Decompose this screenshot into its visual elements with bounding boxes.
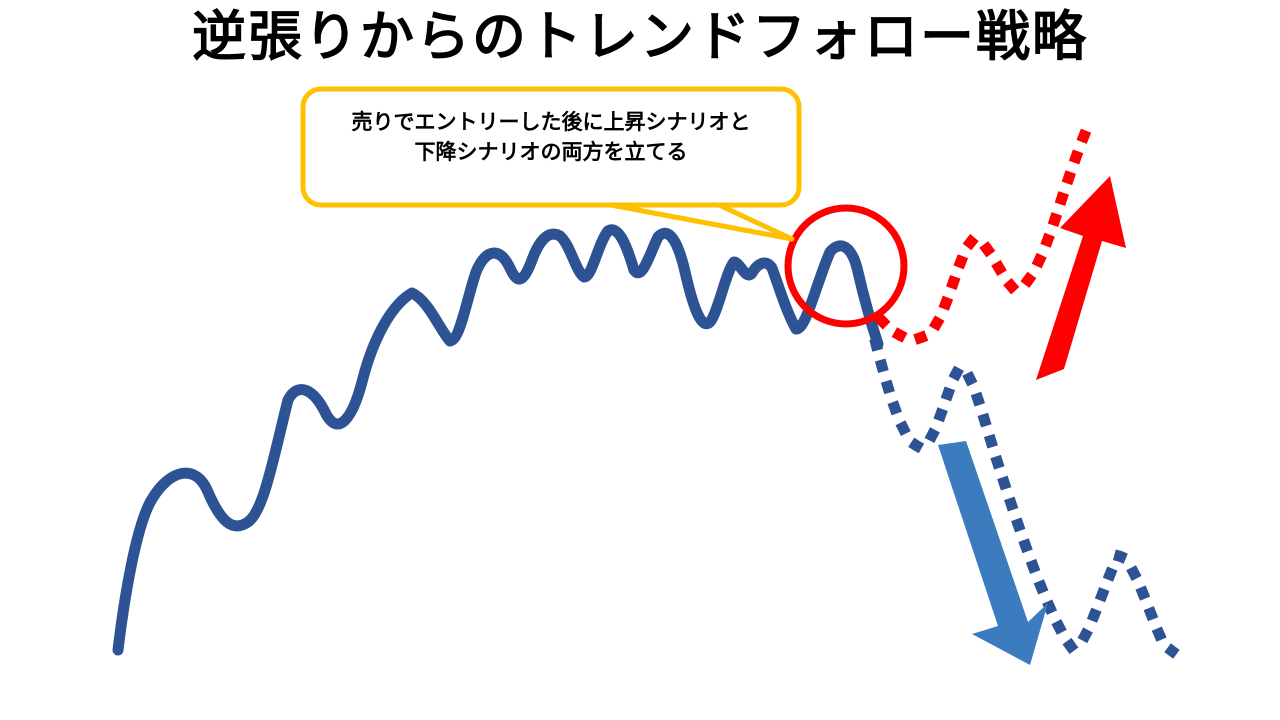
speech-balloon-label: 売りでエントリーした後に上昇シナリオと 下降シナリオの両方を立てる (308, 108, 794, 169)
entry-zone-circle (788, 208, 904, 324)
price-history-line (118, 230, 878, 650)
bearish-arrow (938, 441, 1048, 665)
bearish-scenario-dotted (876, 344, 1172, 651)
bullish-arrow (1036, 176, 1126, 380)
page-title: 逆張りからのトレンドフォロー戦略 (0, 8, 1280, 67)
slide-canvas: 逆張りからのトレンドフォロー戦略 売りでエントリーした後に上昇シナリオと 下降シ… (0, 0, 1280, 720)
bullish-scenario-dotted (882, 131, 1086, 339)
